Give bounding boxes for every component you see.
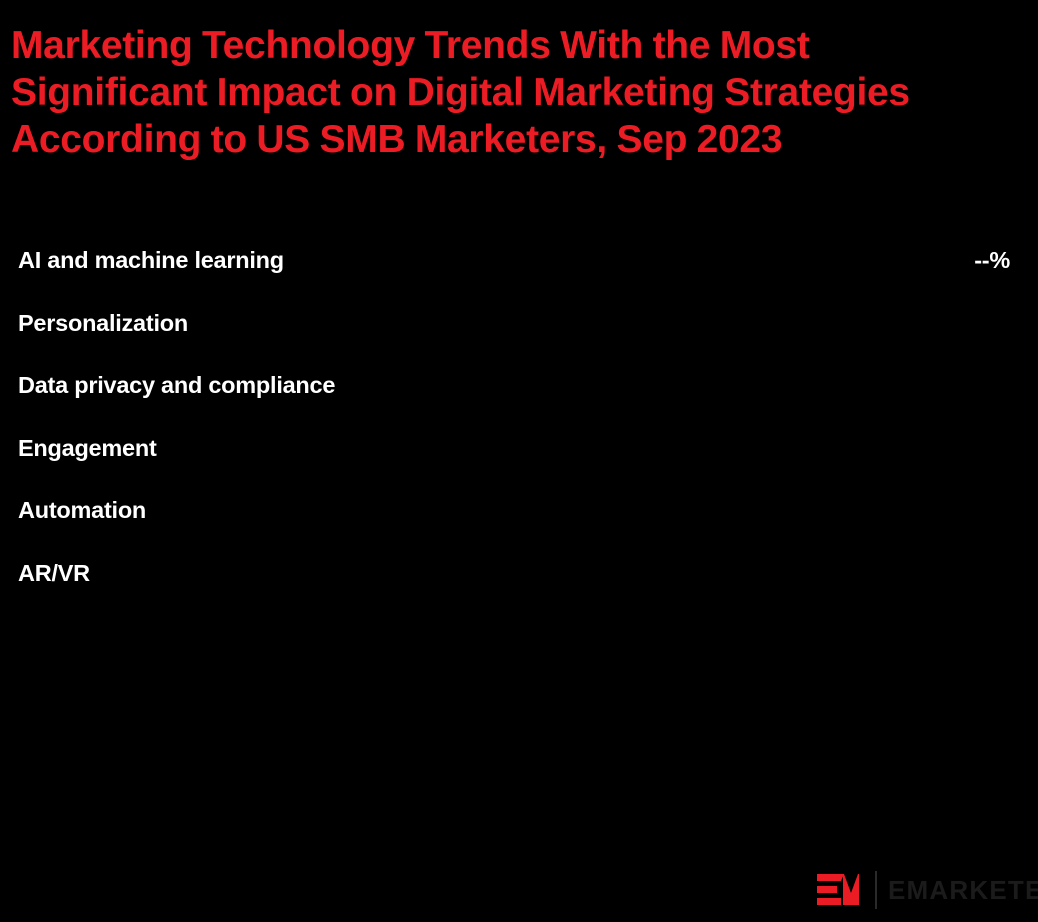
row-label-engagement: Engagement (18, 434, 157, 462)
table-row: AR/VR (0, 559, 1038, 622)
chart-title: Marketing Technology Trends With the Mos… (11, 22, 1026, 163)
row-label-ar-vr: AR/VR (18, 559, 90, 587)
row-label-automation: Automation (18, 496, 146, 524)
row-value-ai-and-machine-learning: --% (974, 246, 1010, 274)
chart-data-list: AI and machine learning --% Personalizat… (0, 246, 1038, 621)
table-row: AI and machine learning --% (0, 246, 1038, 309)
em-monogram-icon (817, 873, 871, 907)
chart-title-line-2: Significant Impact on Digital Marketing … (11, 69, 1026, 116)
table-row: Data privacy and compliance (0, 371, 1038, 434)
logo-divider (875, 871, 877, 909)
chart-card: Marketing Technology Trends With the Mos… (0, 0, 1038, 922)
table-row: Automation (0, 496, 1038, 559)
logo-wordmark: EMARKETER (888, 877, 1038, 903)
chart-title-line-1: Marketing Technology Trends With the Mos… (11, 22, 1026, 69)
row-label-data-privacy-and-compliance: Data privacy and compliance (18, 371, 335, 399)
emarketer-logo: EMARKETER (817, 871, 1038, 909)
table-row: Engagement (0, 434, 1038, 497)
chart-title-line-3: According to US SMB Marketers, Sep 2023 (11, 116, 1026, 163)
row-label-personalization: Personalization (18, 309, 188, 337)
table-row: Personalization (0, 309, 1038, 372)
row-label-ai-and-machine-learning: AI and machine learning (18, 246, 284, 274)
